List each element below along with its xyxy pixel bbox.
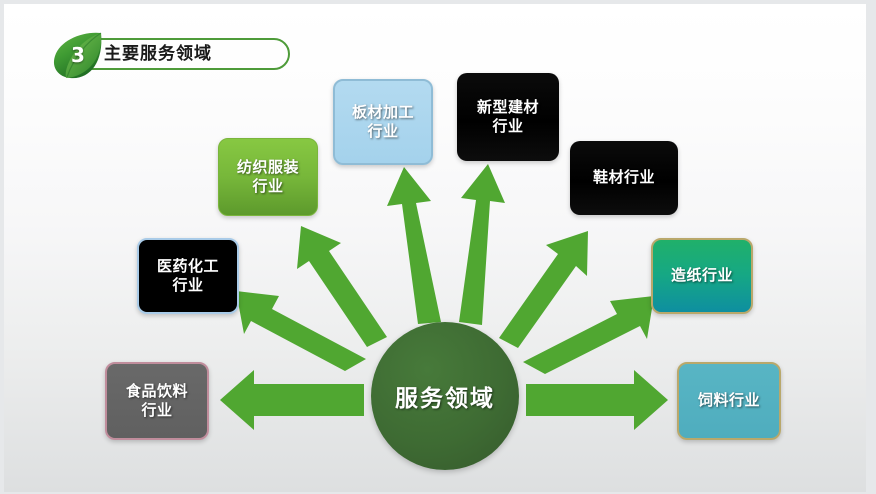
industry-node-paper[interactable]: 造纸行业	[651, 238, 753, 314]
industry-node-textile[interactable]: 纺织服装 行业	[218, 138, 318, 216]
hub-node[interactable]: 服务领域	[371, 322, 519, 470]
industry-node-label: 饲料行业	[692, 391, 766, 410]
hub-label: 服务领域	[371, 322, 519, 470]
industry-node-label: 纺织服装 行业	[231, 158, 305, 196]
industry-node-newmaterial[interactable]: 新型建材 行业	[457, 73, 559, 161]
service-areas-diagram: 服务领域 纺织服装 行业板材加工 行业新型建材 行业鞋材行业造纸行业饲料行业食品…	[4, 4, 866, 492]
arrow-to-feed	[526, 370, 668, 430]
industry-node-pharma[interactable]: 医药化工 行业	[137, 238, 239, 314]
industry-node-label: 板材加工 行业	[346, 103, 420, 141]
arrow-to-panel	[387, 167, 441, 324]
industry-node-label: 食品饮料 行业	[120, 382, 194, 420]
industry-node-label: 新型建材 行业	[471, 98, 545, 136]
industry-node-label: 鞋材行业	[587, 168, 661, 187]
industry-node-feed[interactable]: 饲料行业	[677, 362, 781, 440]
slide-canvas: 3 主要服务领域	[4, 4, 866, 492]
industry-node-label: 医药化工 行业	[151, 257, 225, 295]
industry-node-shoe[interactable]: 鞋材行业	[570, 141, 678, 215]
industry-node-food[interactable]: 食品饮料 行业	[105, 362, 209, 440]
industry-node-panel[interactable]: 板材加工 行业	[333, 79, 433, 165]
arrow-to-food	[220, 370, 364, 430]
industry-node-label: 造纸行业	[665, 266, 739, 285]
arrow-to-newmaterial	[459, 164, 505, 325]
